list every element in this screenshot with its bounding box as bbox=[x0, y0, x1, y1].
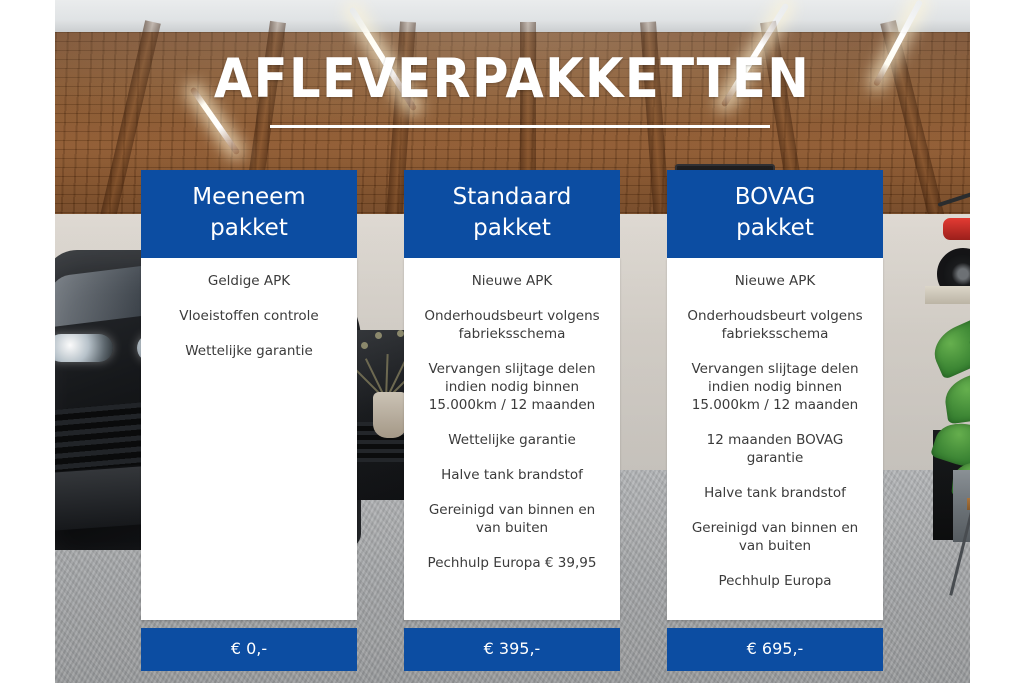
card-feature: Nieuwe APK bbox=[683, 272, 867, 290]
card-header: BOVAG pakket bbox=[667, 170, 883, 258]
slide-root: elf bbox=[0, 0, 1024, 683]
card-title-line2: pakket bbox=[147, 213, 351, 244]
showroom-motorcycle bbox=[935, 178, 970, 298]
car-headlight bbox=[55, 334, 113, 362]
card-feature: Pechhulp Europa € 39,95 bbox=[420, 554, 604, 572]
card-title-line1: Standaard bbox=[410, 182, 614, 213]
card-feature: Gereinigd van binnen en van buiten bbox=[420, 501, 604, 537]
motorcycle-handlebar bbox=[938, 189, 970, 207]
package-card-bovag[interactable]: BOVAG pakket Nieuwe APK Onderhoudsbeurt … bbox=[667, 170, 883, 671]
package-card-meeneem[interactable]: Meeneem pakket Geldige APK Vloeistoffen … bbox=[141, 170, 357, 671]
card-feature-list: Nieuwe APK Onderhoudsbeurt volgens fabri… bbox=[404, 258, 620, 620]
card-feature: Wettelijke garantie bbox=[420, 431, 604, 449]
card-header: Meeneem pakket bbox=[141, 170, 357, 258]
card-feature: Gereinigd van binnen en van buiten bbox=[683, 519, 867, 555]
card-price[interactable]: € 695,- bbox=[667, 628, 883, 671]
card-feature: Onderhoudsbeurt volgens fabrieksschema bbox=[420, 307, 604, 343]
card-feature: Wettelijke garantie bbox=[157, 342, 341, 360]
card-feature: Vervangen slijtage delen indien nodig bi… bbox=[683, 360, 867, 414]
card-title-line2: pakket bbox=[410, 213, 614, 244]
card-price[interactable]: € 395,- bbox=[404, 628, 620, 671]
card-feature-list: Nieuwe APK Onderhoudsbeurt volgens fabri… bbox=[667, 258, 883, 620]
motorcycle-frame bbox=[943, 218, 970, 240]
card-feature: Halve tank brandstof bbox=[683, 484, 867, 502]
card-feature: Geldige APK bbox=[157, 272, 341, 290]
card-feature: Pechhulp Europa bbox=[683, 572, 867, 590]
card-price[interactable]: € 0,- bbox=[141, 628, 357, 671]
side-table-legs bbox=[967, 508, 970, 594]
card-feature: 12 maanden BOVAG garantie bbox=[683, 431, 867, 467]
card-feature: Halve tank brandstof bbox=[420, 466, 604, 484]
card-title-line2: pakket bbox=[673, 213, 877, 244]
card-feature: Vervangen slijtage delen indien nodig bi… bbox=[420, 360, 604, 414]
card-title-line1: BOVAG bbox=[673, 182, 877, 213]
card-feature: Onderhoudsbeurt volgens fabrieksschema bbox=[683, 307, 867, 343]
card-feature: Vloeistoffen controle bbox=[157, 307, 341, 325]
package-card-standaard[interactable]: Standaard pakket Nieuwe APK Onderhoudsbe… bbox=[404, 170, 620, 671]
page-title: AFLEVERPAKKETTEN bbox=[41, 52, 983, 106]
card-header: Standaard pakket bbox=[404, 170, 620, 258]
card-title-line1: Meeneem bbox=[147, 182, 351, 213]
decorative-vase bbox=[373, 392, 407, 438]
ceiling-soffit bbox=[55, 0, 970, 36]
card-feature: Nieuwe APK bbox=[420, 272, 604, 290]
card-feature-list: Geldige APK Vloeistoffen controle Wettel… bbox=[141, 258, 357, 620]
title-divider bbox=[270, 125, 770, 128]
